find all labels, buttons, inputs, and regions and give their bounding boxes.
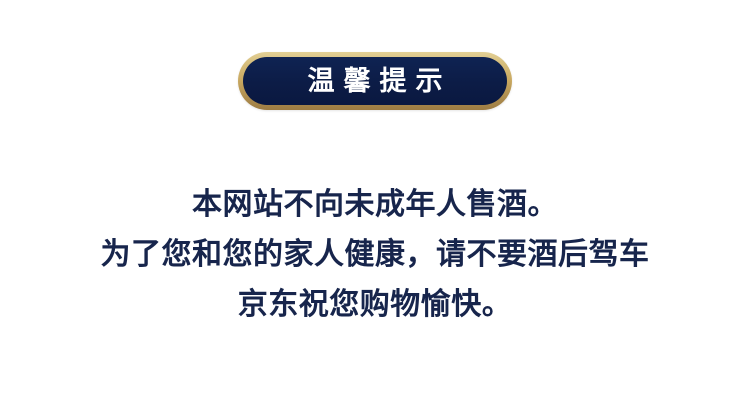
notice-page: 温馨提示 本网站不向未成年人售酒。 为了您和您的家人健康，请不要酒后驾车 京东祝… <box>0 0 750 406</box>
banner-container: 温馨提示 <box>0 52 750 110</box>
notice-message-line-1: 本网站不向未成年人售酒。 <box>0 180 750 230</box>
notice-message-block: 本网站不向未成年人售酒。 为了您和您的家人健康，请不要酒后驾车 京东祝您购物愉快… <box>0 180 750 330</box>
notice-message-line-3: 京东祝您购物愉快。 <box>0 280 750 330</box>
notice-banner-inner: 温馨提示 <box>243 57 507 105</box>
notice-message-line-2: 为了您和您的家人健康，请不要酒后驾车 <box>0 230 750 280</box>
notice-banner-title: 温馨提示 <box>299 68 452 95</box>
notice-banner-pill: 温馨提示 <box>238 52 512 110</box>
